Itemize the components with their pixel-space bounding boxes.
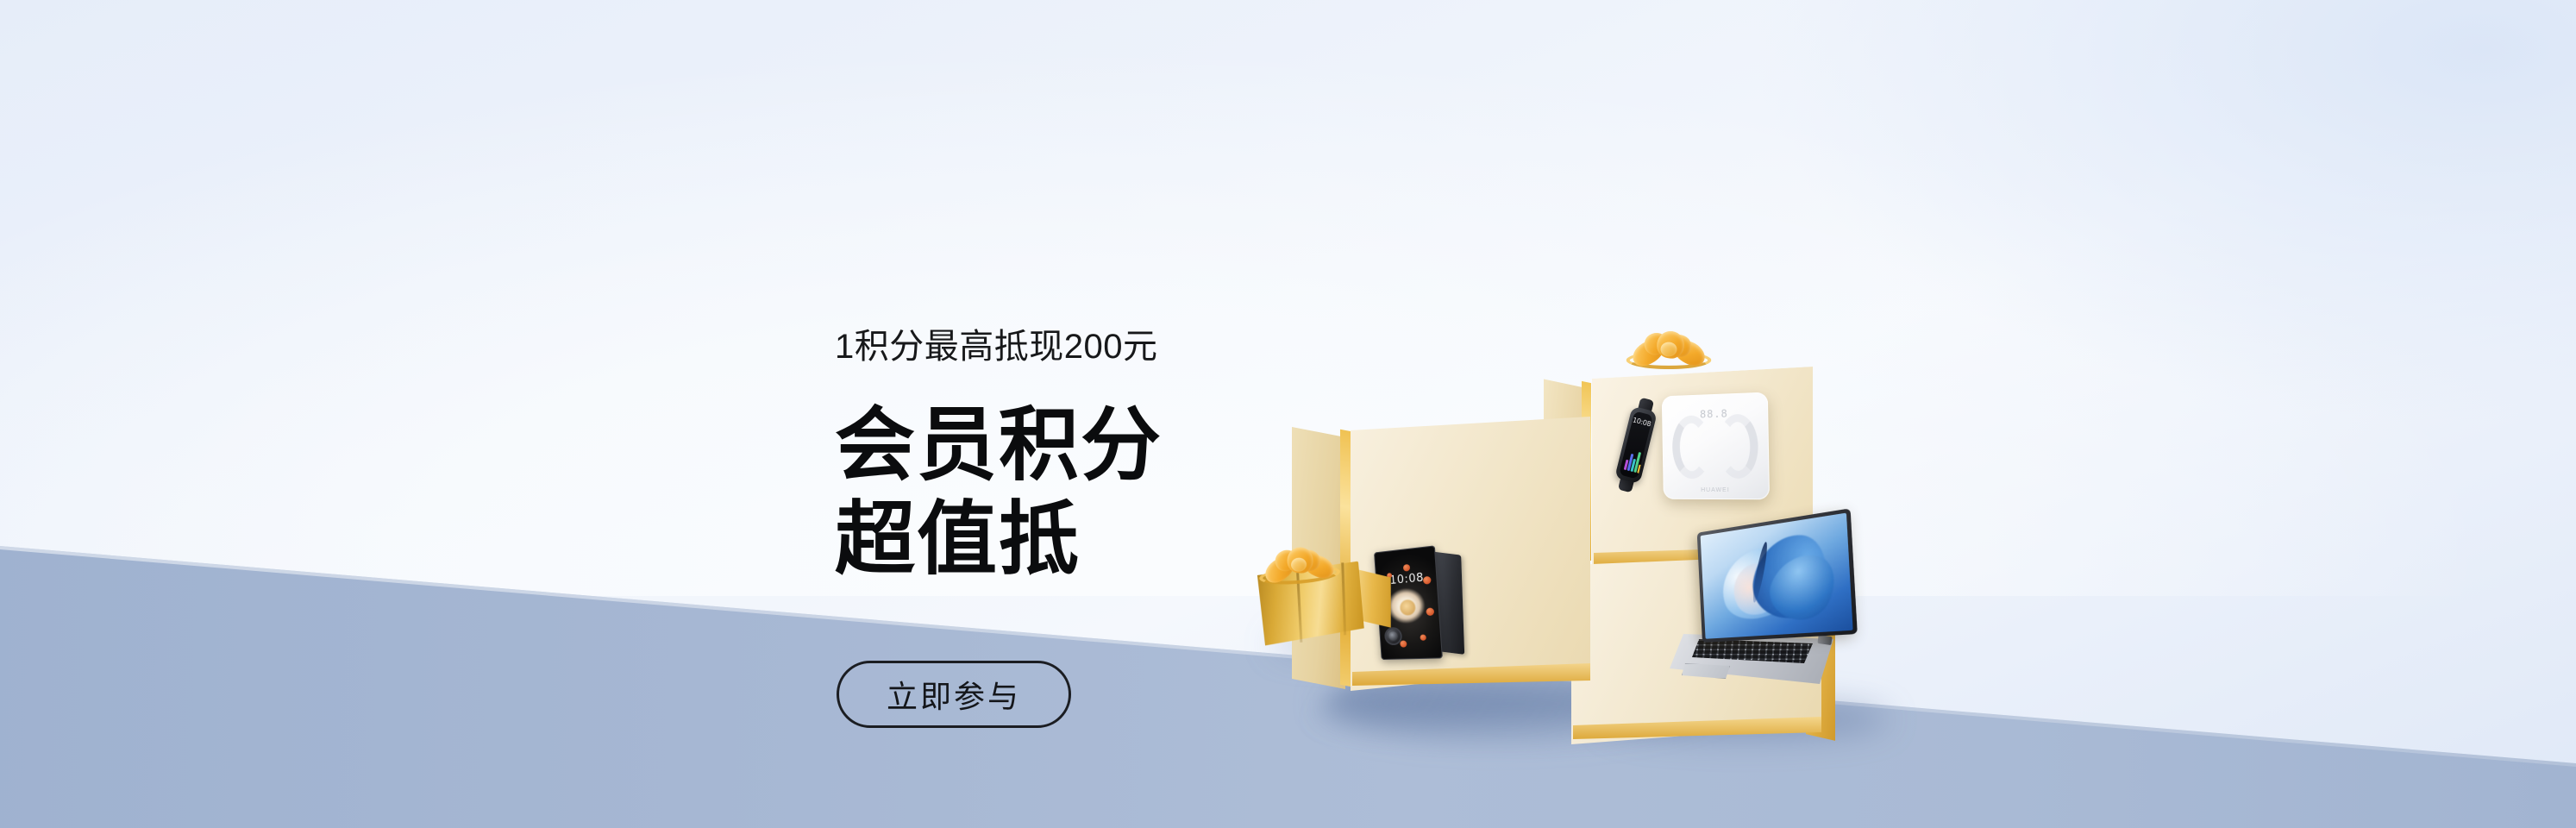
scale-electrode-left xyxy=(1672,415,1712,479)
band-clock: 10:08 xyxy=(1632,416,1652,428)
banner-headline: 会员积分 超值抵 xyxy=(835,398,1163,586)
smart-scale: 88.8 HUAWEI xyxy=(1662,392,1770,500)
laptop-port xyxy=(1817,635,1832,645)
laptop-trackpad xyxy=(1682,663,1730,679)
wallpaper-berry xyxy=(1426,607,1434,616)
headline-line-1: 会员积分 xyxy=(835,400,1163,490)
phone-wallpaper-flower xyxy=(1386,583,1430,630)
gift-box-icon xyxy=(1248,537,1386,650)
laptop xyxy=(1670,532,1847,693)
banner-copy: 1积分最高抵现200元 会员积分 超值抵 xyxy=(835,328,1163,586)
laptop-lid xyxy=(1697,508,1858,643)
wallpaper-berry xyxy=(1400,640,1407,647)
headline-line-2: 超值抵 xyxy=(835,492,1163,586)
scale-electrode-right xyxy=(1717,413,1758,479)
wallpaper-berry xyxy=(1420,634,1426,640)
ribbon-bow-icon xyxy=(1260,541,1338,588)
scale-logo: HUAWEI xyxy=(1701,487,1730,493)
bow-knot xyxy=(1661,342,1677,357)
product-illustration: 10:08 88.8 HUAWEI xyxy=(1242,341,1863,746)
band-activity-bars xyxy=(1624,448,1641,473)
join-now-button[interactable]: 立即参与 xyxy=(837,661,1071,728)
laptop-screen-wallpaper xyxy=(1701,513,1853,639)
wallpaper-berry xyxy=(1403,564,1410,572)
scale-display: 88.8 xyxy=(1700,407,1728,420)
promo-banner: 1积分最高抵现200元 会员积分 超值抵 立即参与 xyxy=(0,0,2576,828)
banner-subtitle: 1积分最高抵现200元 xyxy=(835,328,1163,366)
ribbon-bow-icon xyxy=(1630,328,1708,371)
join-now-button-label: 立即参与 xyxy=(887,672,1021,717)
